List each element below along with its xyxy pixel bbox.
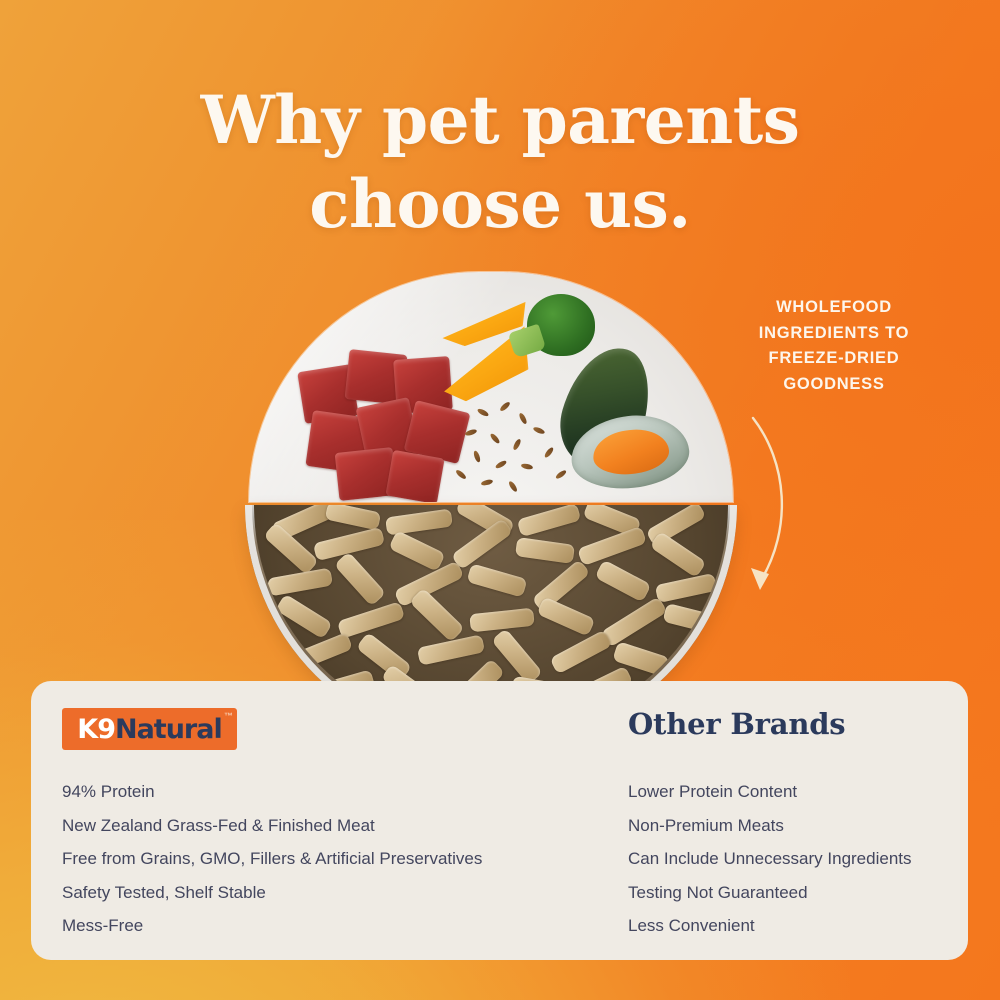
list-item: Mess-Free (62, 909, 622, 943)
meat-cube (385, 450, 444, 502)
page-title: Why pet parents choose us. (0, 78, 1000, 246)
logo-wordmark: K9Natural (62, 708, 237, 750)
callout-line-3: FREEZE-DRIED (712, 346, 956, 372)
callout-line-2: INGREDIENTS TO (712, 321, 956, 347)
list-item: New Zealand Grass-Fed & Finished Meat (62, 809, 622, 843)
list-item: Testing Not Guaranteed (628, 876, 948, 910)
brand-features-list: 94% Protein New Zealand Grass-Fed & Fini… (62, 775, 622, 943)
headline-line-1: Why pet parents (0, 78, 1000, 162)
list-item: Lower Protein Content (628, 775, 948, 809)
other-brands-features-list: Lower Protein Content Non-Premium Meats … (628, 775, 948, 943)
list-item: Less Convenient (628, 909, 948, 943)
callout-line-1: WHOLEFOOD (712, 295, 956, 321)
k9-natural-logo: K9Natural ™ (62, 708, 237, 750)
list-item: Non-Premium Meats (628, 809, 948, 843)
list-item: Safety Tested, Shelf Stable (62, 876, 622, 910)
list-item: Free from Grains, GMO, Fillers & Artific… (62, 842, 622, 876)
ingredient-plate (249, 272, 733, 502)
headline-line-2: choose us. (0, 162, 1000, 246)
other-brands-heading: Other Brands (628, 707, 845, 741)
list-item: Can Include Unnecessary Ingredients (628, 842, 948, 876)
logo-natural-text: Natural (115, 714, 222, 745)
trademark-symbol: ™ (224, 711, 233, 721)
callout-text: WHOLEFOOD INGREDIENTS TO FREEZE-DRIED GO… (712, 295, 956, 397)
product-photo (245, 272, 737, 746)
list-item: 94% Protein (62, 775, 622, 809)
comparison-panel: K9Natural ™ Other Brands 94% Protein New… (31, 681, 968, 960)
callout-line-4: GOODNESS (712, 372, 956, 398)
infographic-canvas: Why pet parents choose us. WHOLEFOOD ING… (0, 0, 1000, 1000)
logo-k9-text: K9 (77, 714, 115, 745)
